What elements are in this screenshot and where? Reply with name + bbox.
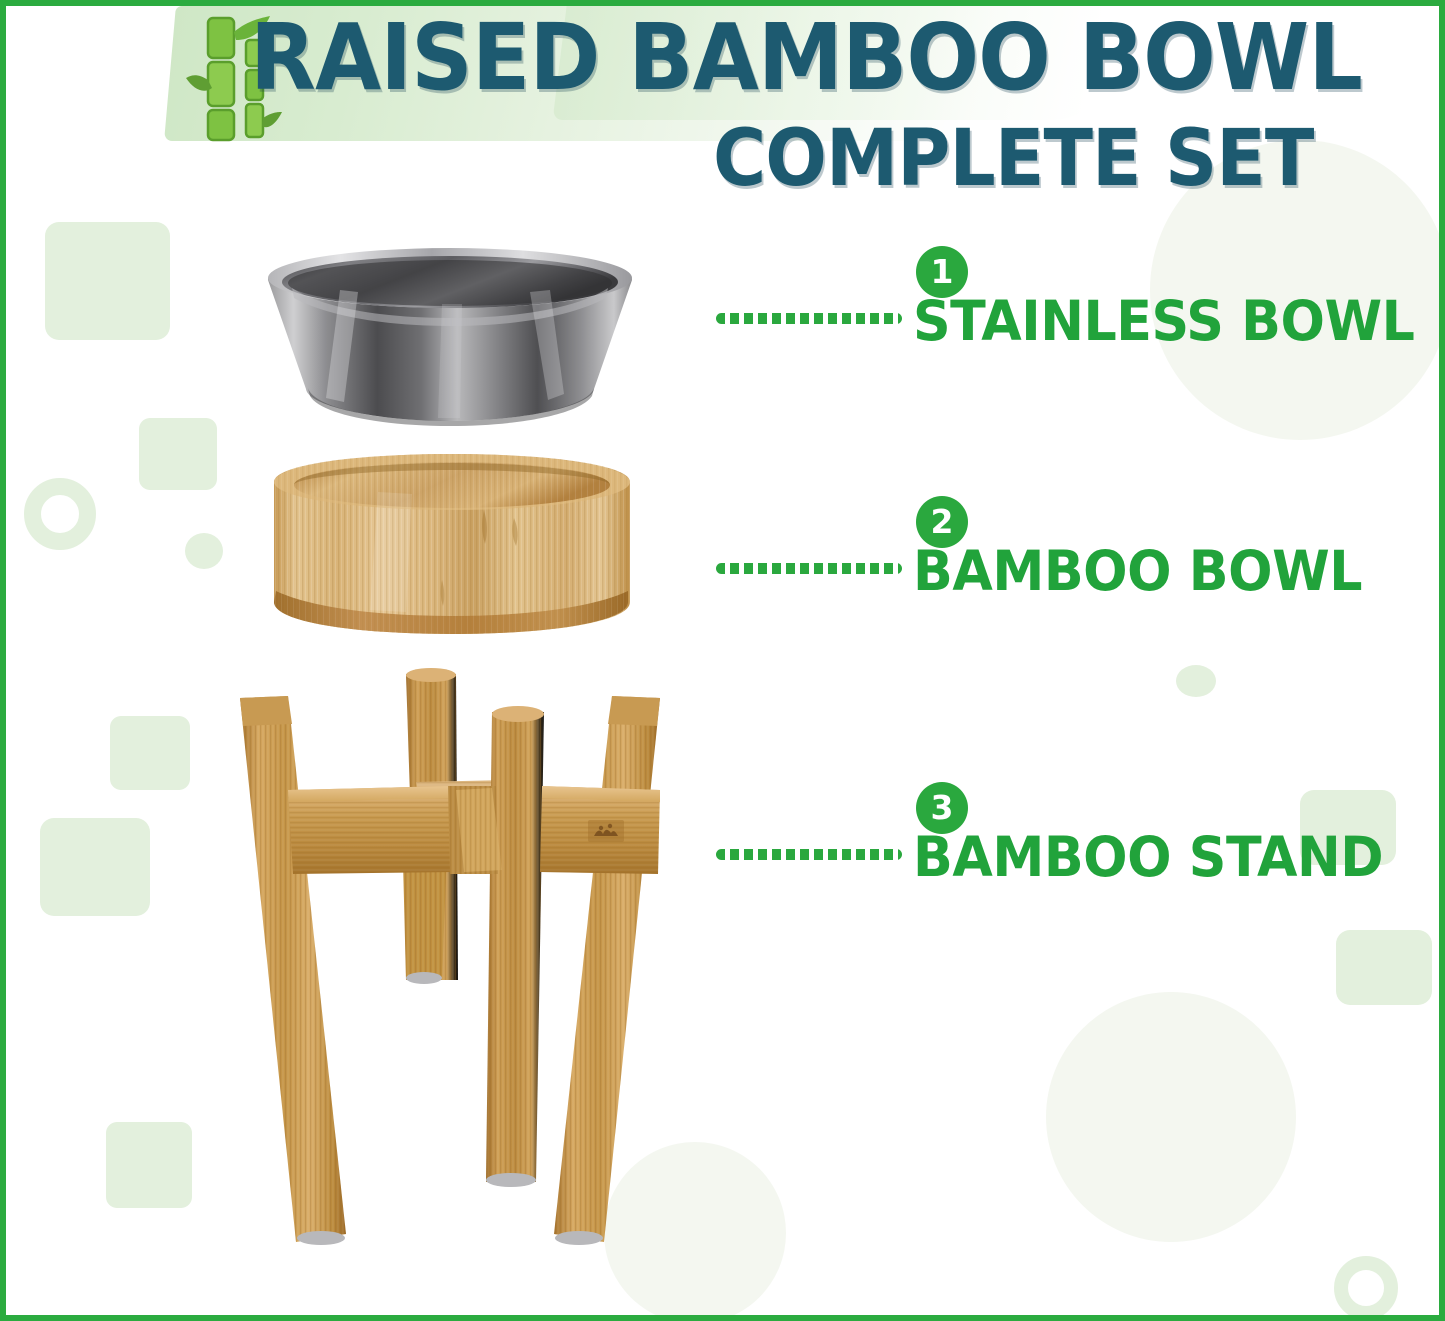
- decor-square: [1336, 930, 1432, 1005]
- bamboo-stand: [180, 662, 720, 1270]
- product-infographic: RAISED BAMBOO BOWL COMPLETE SET 1 STAINL…: [0, 0, 1445, 1321]
- callout-dash-line-3: [716, 849, 902, 860]
- page-title-line1: RAISED BAMBOO BOWL: [250, 10, 1362, 106]
- callout-label-stainless-bowl: STAINLESS BOWL: [913, 292, 1414, 350]
- brand-stamp-icon: [588, 820, 624, 842]
- decor-square: [110, 716, 190, 790]
- callout-dash-line-2: [716, 563, 902, 574]
- callout-label-bamboo-stand: BAMBOO STAND: [913, 828, 1383, 886]
- bamboo-bowl: [266, 452, 638, 642]
- page-title-line2: COMPLETE SET: [713, 118, 1313, 200]
- decor-ring: [1334, 1256, 1398, 1320]
- decor-square: [45, 222, 170, 340]
- decor-ring: [24, 478, 96, 550]
- stainless-steel-bowl: [262, 246, 638, 428]
- callout-badge-2: 2: [916, 496, 968, 548]
- decor-circle: [185, 533, 223, 569]
- decor-square: [139, 418, 217, 490]
- decor-circle: [1176, 665, 1216, 697]
- callout-label-bamboo-bowl: BAMBOO BOWL: [913, 542, 1362, 600]
- callout-dash-line-1: [716, 313, 902, 324]
- decor-pale-circle: [1046, 992, 1296, 1242]
- callout-badge-3: 3: [916, 782, 968, 834]
- decor-square: [40, 818, 150, 916]
- callout-badge-1: 1: [916, 246, 968, 298]
